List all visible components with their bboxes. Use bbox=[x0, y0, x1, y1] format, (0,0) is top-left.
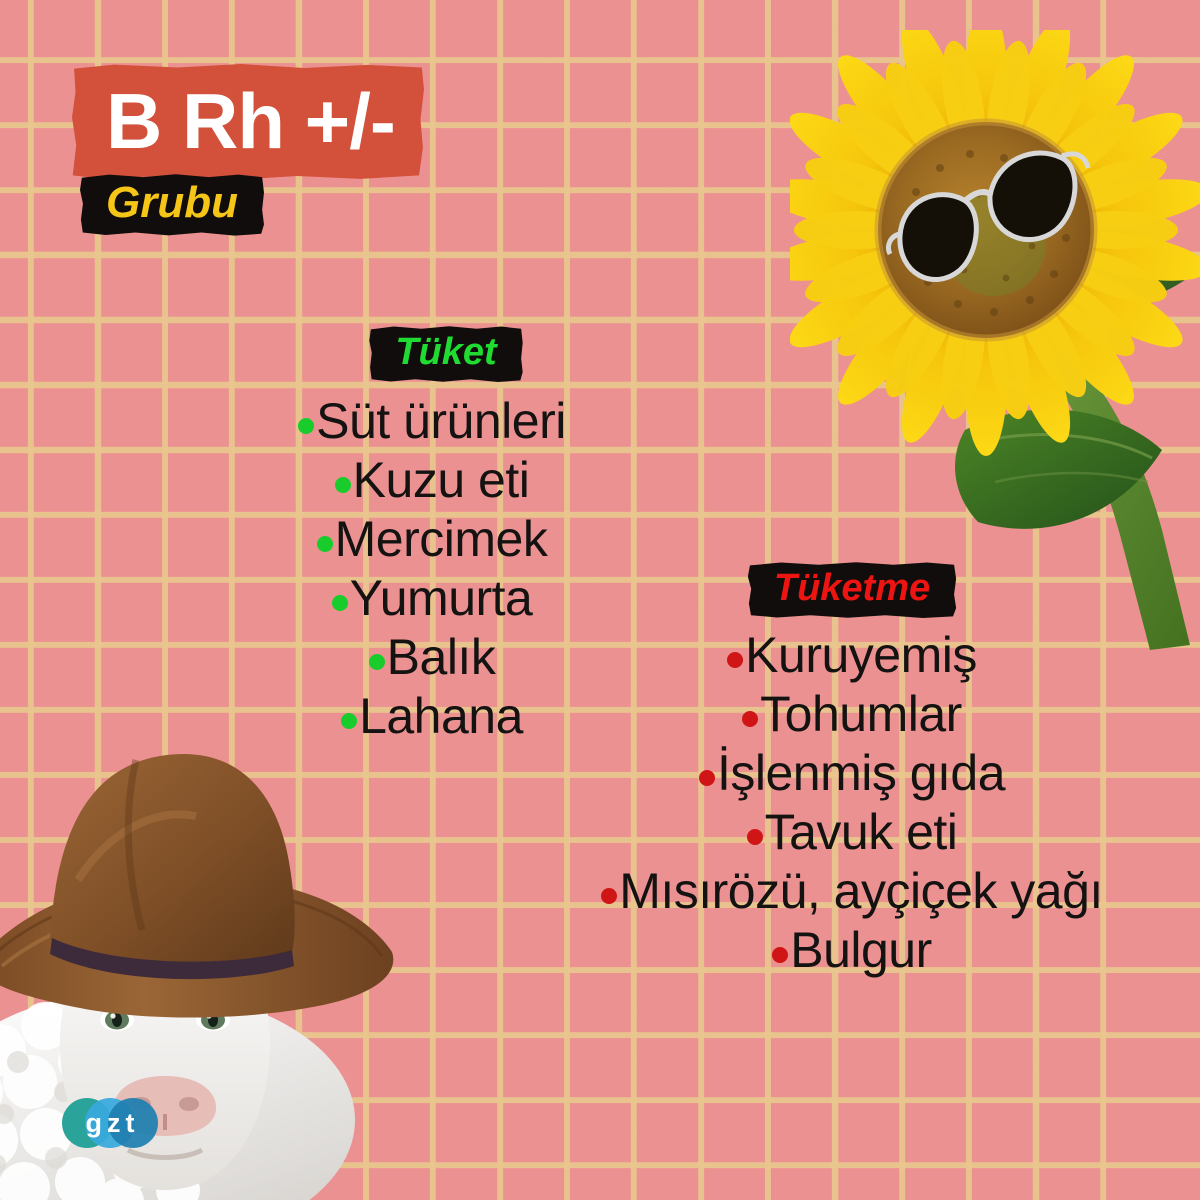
bullet-dot-icon bbox=[335, 477, 351, 493]
eat-heading-banner: Tüket bbox=[369, 326, 522, 382]
avoid-food-list: Kuruyemiş Tohumlar İşlenmiş gıda Tavuk e… bbox=[552, 626, 1152, 980]
list-item: Tavuk eti bbox=[552, 803, 1152, 862]
avoid-section: Tüketme Kuruyemiş Tohumlar İşlenmiş gıda… bbox=[552, 562, 1152, 980]
list-item-label: Balık bbox=[387, 629, 496, 685]
infographic-poster: B Rh +/- Grubu Tüket Süt ürünleri Kuzu e… bbox=[0, 0, 1200, 1200]
avoid-heading-label: Tüketme bbox=[774, 567, 930, 609]
list-item: Mısırözü, ayçiçek yağı bbox=[552, 862, 1152, 921]
eat-heading-label: Tüket bbox=[395, 331, 496, 373]
list-item-label: Yumurta bbox=[350, 570, 533, 626]
bullet-dot-icon bbox=[742, 711, 758, 727]
bullet-dot-icon bbox=[601, 888, 617, 904]
gzt-logo[interactable]: gzt bbox=[62, 1098, 158, 1148]
bullet-dot-icon bbox=[727, 652, 743, 668]
list-item-label: Tohumlar bbox=[760, 686, 962, 742]
list-item: İşlenmiş gıda bbox=[552, 744, 1152, 803]
list-item: Kuzu eti bbox=[252, 451, 612, 510]
list-item: Kuruyemiş bbox=[552, 626, 1152, 685]
bullet-dot-icon bbox=[772, 947, 788, 963]
list-item-label: Mercimek bbox=[335, 511, 548, 567]
list-item-label: İşlenmiş gıda bbox=[717, 745, 1005, 801]
bullet-dot-icon bbox=[298, 418, 314, 434]
list-item-label: Bulgur bbox=[790, 922, 932, 978]
eat-heading-wrap: Tüket bbox=[280, 326, 612, 382]
list-item: Süt ürünleri bbox=[252, 392, 612, 451]
logo-wordmark: gzt bbox=[62, 1098, 158, 1148]
list-item-label: Lahana bbox=[359, 688, 523, 744]
bullet-dot-icon bbox=[369, 654, 385, 670]
list-item-label: Tavuk eti bbox=[765, 804, 958, 860]
avoid-heading-wrap: Tüketme bbox=[552, 562, 1152, 618]
page-subtitle: Grubu bbox=[106, 178, 238, 227]
list-item: Bulgur bbox=[552, 921, 1152, 980]
subtitle-banner: Grubu bbox=[80, 174, 264, 236]
bullet-dot-icon bbox=[317, 536, 333, 552]
header-block: B Rh +/- Grubu bbox=[72, 64, 424, 236]
bullet-dot-icon bbox=[699, 770, 715, 786]
list-item-label: Kuzu eti bbox=[353, 452, 530, 508]
bullet-dot-icon bbox=[747, 829, 763, 845]
blood-type-banner: B Rh +/- bbox=[72, 64, 424, 180]
list-item-label: Mısırözü, ayçiçek yağı bbox=[619, 863, 1103, 919]
list-item-label: Kuruyemiş bbox=[745, 627, 977, 683]
bullet-dot-icon bbox=[341, 713, 357, 729]
list-item: Mercimek bbox=[252, 510, 612, 569]
list-item-label: Süt ürünleri bbox=[316, 393, 566, 449]
avoid-heading-banner: Tüketme bbox=[748, 562, 956, 618]
list-item: Tohumlar bbox=[552, 685, 1152, 744]
subtitle-tag-wrap: Grubu bbox=[80, 174, 424, 236]
page-title: B Rh +/- bbox=[106, 82, 390, 160]
bullet-dot-icon bbox=[332, 595, 348, 611]
